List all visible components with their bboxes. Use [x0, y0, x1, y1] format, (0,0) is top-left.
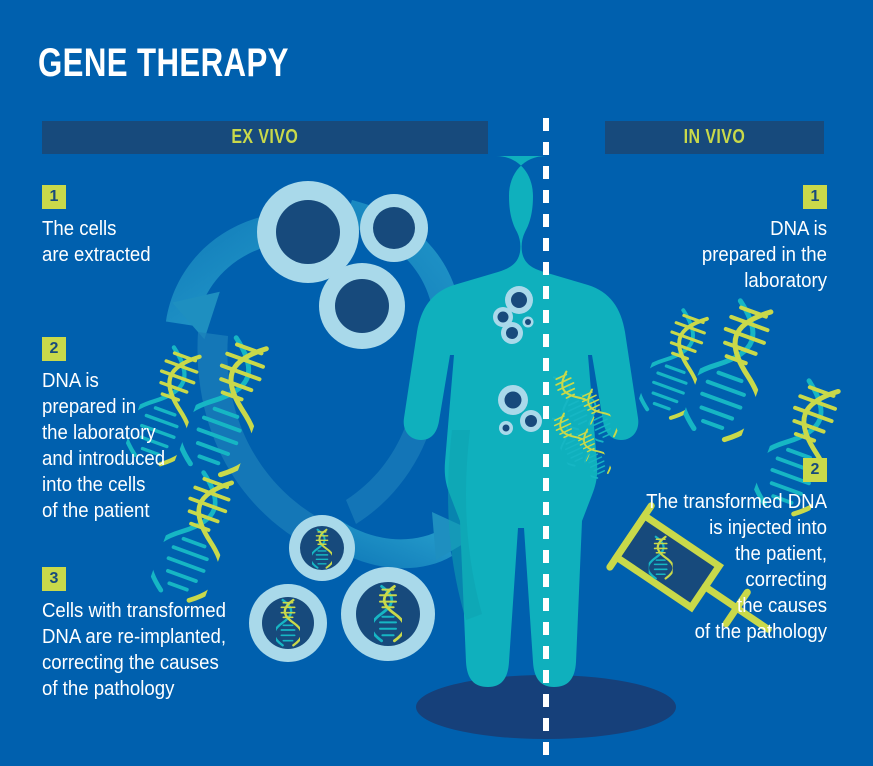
body-internal-cells: [493, 286, 542, 435]
step-number-badge: 2: [42, 337, 66, 361]
step-number-badge: 1: [803, 185, 827, 209]
step-text: DNA is prepared in the laboratory and in…: [42, 368, 237, 524]
extracted-cells: [257, 181, 428, 349]
step-number-badge: 1: [42, 185, 66, 209]
step-text: The transformed DNA is injected into the…: [595, 489, 828, 645]
step-text: DNA is prepared in the laboratory: [632, 216, 827, 294]
infographic-canvas: GENE THERAPY EX VIVO IN VIVO 1 The cells…: [0, 0, 873, 766]
ex-vivo-step-3: 3 Cells with transformed DNA are re-impl…: [42, 567, 292, 702]
page-title: GENE THERAPY: [38, 42, 289, 84]
step-text: The cells are extracted: [42, 216, 237, 268]
banner-ex-vivo: EX VIVO: [42, 121, 488, 154]
banner-ex-vivo-label: EX VIVO: [232, 126, 299, 149]
step-number-badge: 2: [803, 458, 827, 482]
ex-vivo-step-2: 2 DNA is prepared in the laboratory and …: [42, 337, 252, 524]
in-vivo-step-2: 2 The transformed DNA is injected into t…: [577, 458, 827, 645]
banner-in-vivo-label: IN VIVO: [684, 126, 745, 149]
in-vivo-step-1: 1 DNA is prepared in the laboratory: [617, 185, 827, 294]
banner-in-vivo: IN VIVO: [605, 121, 824, 154]
step-number-badge: 3: [42, 567, 66, 591]
step-text: Cells with transformed DNA are re-implan…: [42, 598, 275, 702]
ex-vivo-step-1: 1 The cells are extracted: [42, 185, 252, 268]
